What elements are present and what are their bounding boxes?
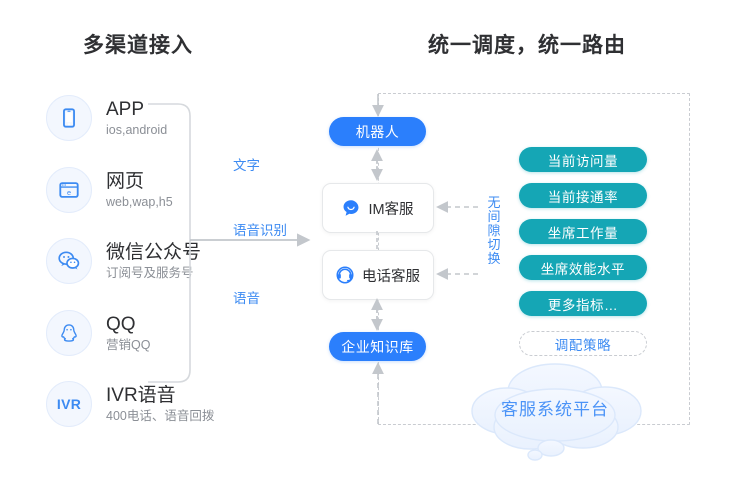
connector-label-voice: 语音 [233,287,260,307]
node-telephone-service[interactable]: 电话客服 [322,250,434,300]
metric-tag-connect-rate[interactable]: 当前接通率 [519,183,647,208]
channel-item-web[interactable]: e 网页 web,wap,h5 [46,161,246,219]
channel-subtitle: web,wap,h5 [106,195,173,209]
wechat-icon [46,238,92,284]
metric-tag-label: 当前接通率 [548,186,619,206]
mobile-phone-icon [46,95,92,141]
metric-tag-label: 更多指标… [548,294,619,314]
note-char: 隙 [486,224,502,238]
channel-name: QQ [106,314,150,335]
node-telephone-label: 电话客服 [362,265,420,286]
metric-tag-label: 坐席工作量 [548,222,619,242]
channel-subtitle: 营销QQ [106,338,150,352]
channel-subtitle: 400电话、语音回拨 [106,409,214,423]
qq-penguin-icon [46,310,92,356]
ivr-text-icon: IVR [46,381,92,427]
note-char: 间 [486,210,502,224]
svg-text:e: e [67,188,71,197]
metric-tag-agent-workload[interactable]: 坐席工作量 [519,219,647,244]
channel-item-wechat[interactable]: 微信公众号 订阅号及服务号 [46,232,246,290]
channel-subtitle: 订阅号及服务号 [106,266,201,280]
metric-tag-visits[interactable]: 当前访问量 [519,147,647,172]
page-title-left: 多渠道接入 [83,29,193,59]
channel-name: 微信公众号 [106,242,201,263]
platform-cloud-shape [455,355,655,468]
metric-tag-agent-efficiency[interactable]: 坐席效能水平 [519,255,647,280]
node-robot-label: 机器人 [356,122,400,142]
browser-window-icon: e [46,167,92,213]
channel-item-app[interactable]: APP ios,android [46,89,246,147]
metric-tag-label: 当前访问量 [548,150,619,170]
metric-tag-label: 坐席效能水平 [541,258,626,278]
node-robot[interactable]: 机器人 [329,117,426,146]
channel-name: IVR语音 [106,385,214,406]
channel-subtitle: ios,android [106,123,167,137]
node-im-service[interactable]: IM客服 [322,183,434,233]
headset-icon [336,266,354,284]
page-title-right: 统一调度，统一路由 [428,29,626,59]
node-im-label: IM客服 [368,198,413,219]
ivr-badge-label: IVR [57,396,81,412]
note-char: 切 [486,238,502,252]
node-knowledge-base-label: 企业知识库 [341,337,414,357]
channel-name: APP [106,99,167,120]
dispatch-policy-tag[interactable]: 调配策略 [519,331,647,356]
note-char: 无 [486,196,502,210]
node-knowledge-base[interactable]: 企业知识库 [329,332,426,361]
connector-label-asr: 语音识别 [233,219,287,239]
note-char: 换 [486,252,502,266]
seamless-switch-note: 无 间 隙 切 换 [486,196,502,266]
dispatch-policy-label: 调配策略 [555,334,611,354]
channel-item-qq[interactable]: QQ 营销QQ [46,304,246,362]
channel-name: 网页 [106,171,173,192]
chat-bubble-icon [342,199,360,217]
channel-item-ivr[interactable]: IVR IVR语音 400电话、语音回拨 [46,375,246,433]
diagram-canvas: 多渠道接入 统一调度，统一路由 APP ios,android e [0,0,752,500]
metric-tag-more[interactable]: 更多指标… [519,291,647,316]
connector-label-text: 文字 [233,154,260,174]
